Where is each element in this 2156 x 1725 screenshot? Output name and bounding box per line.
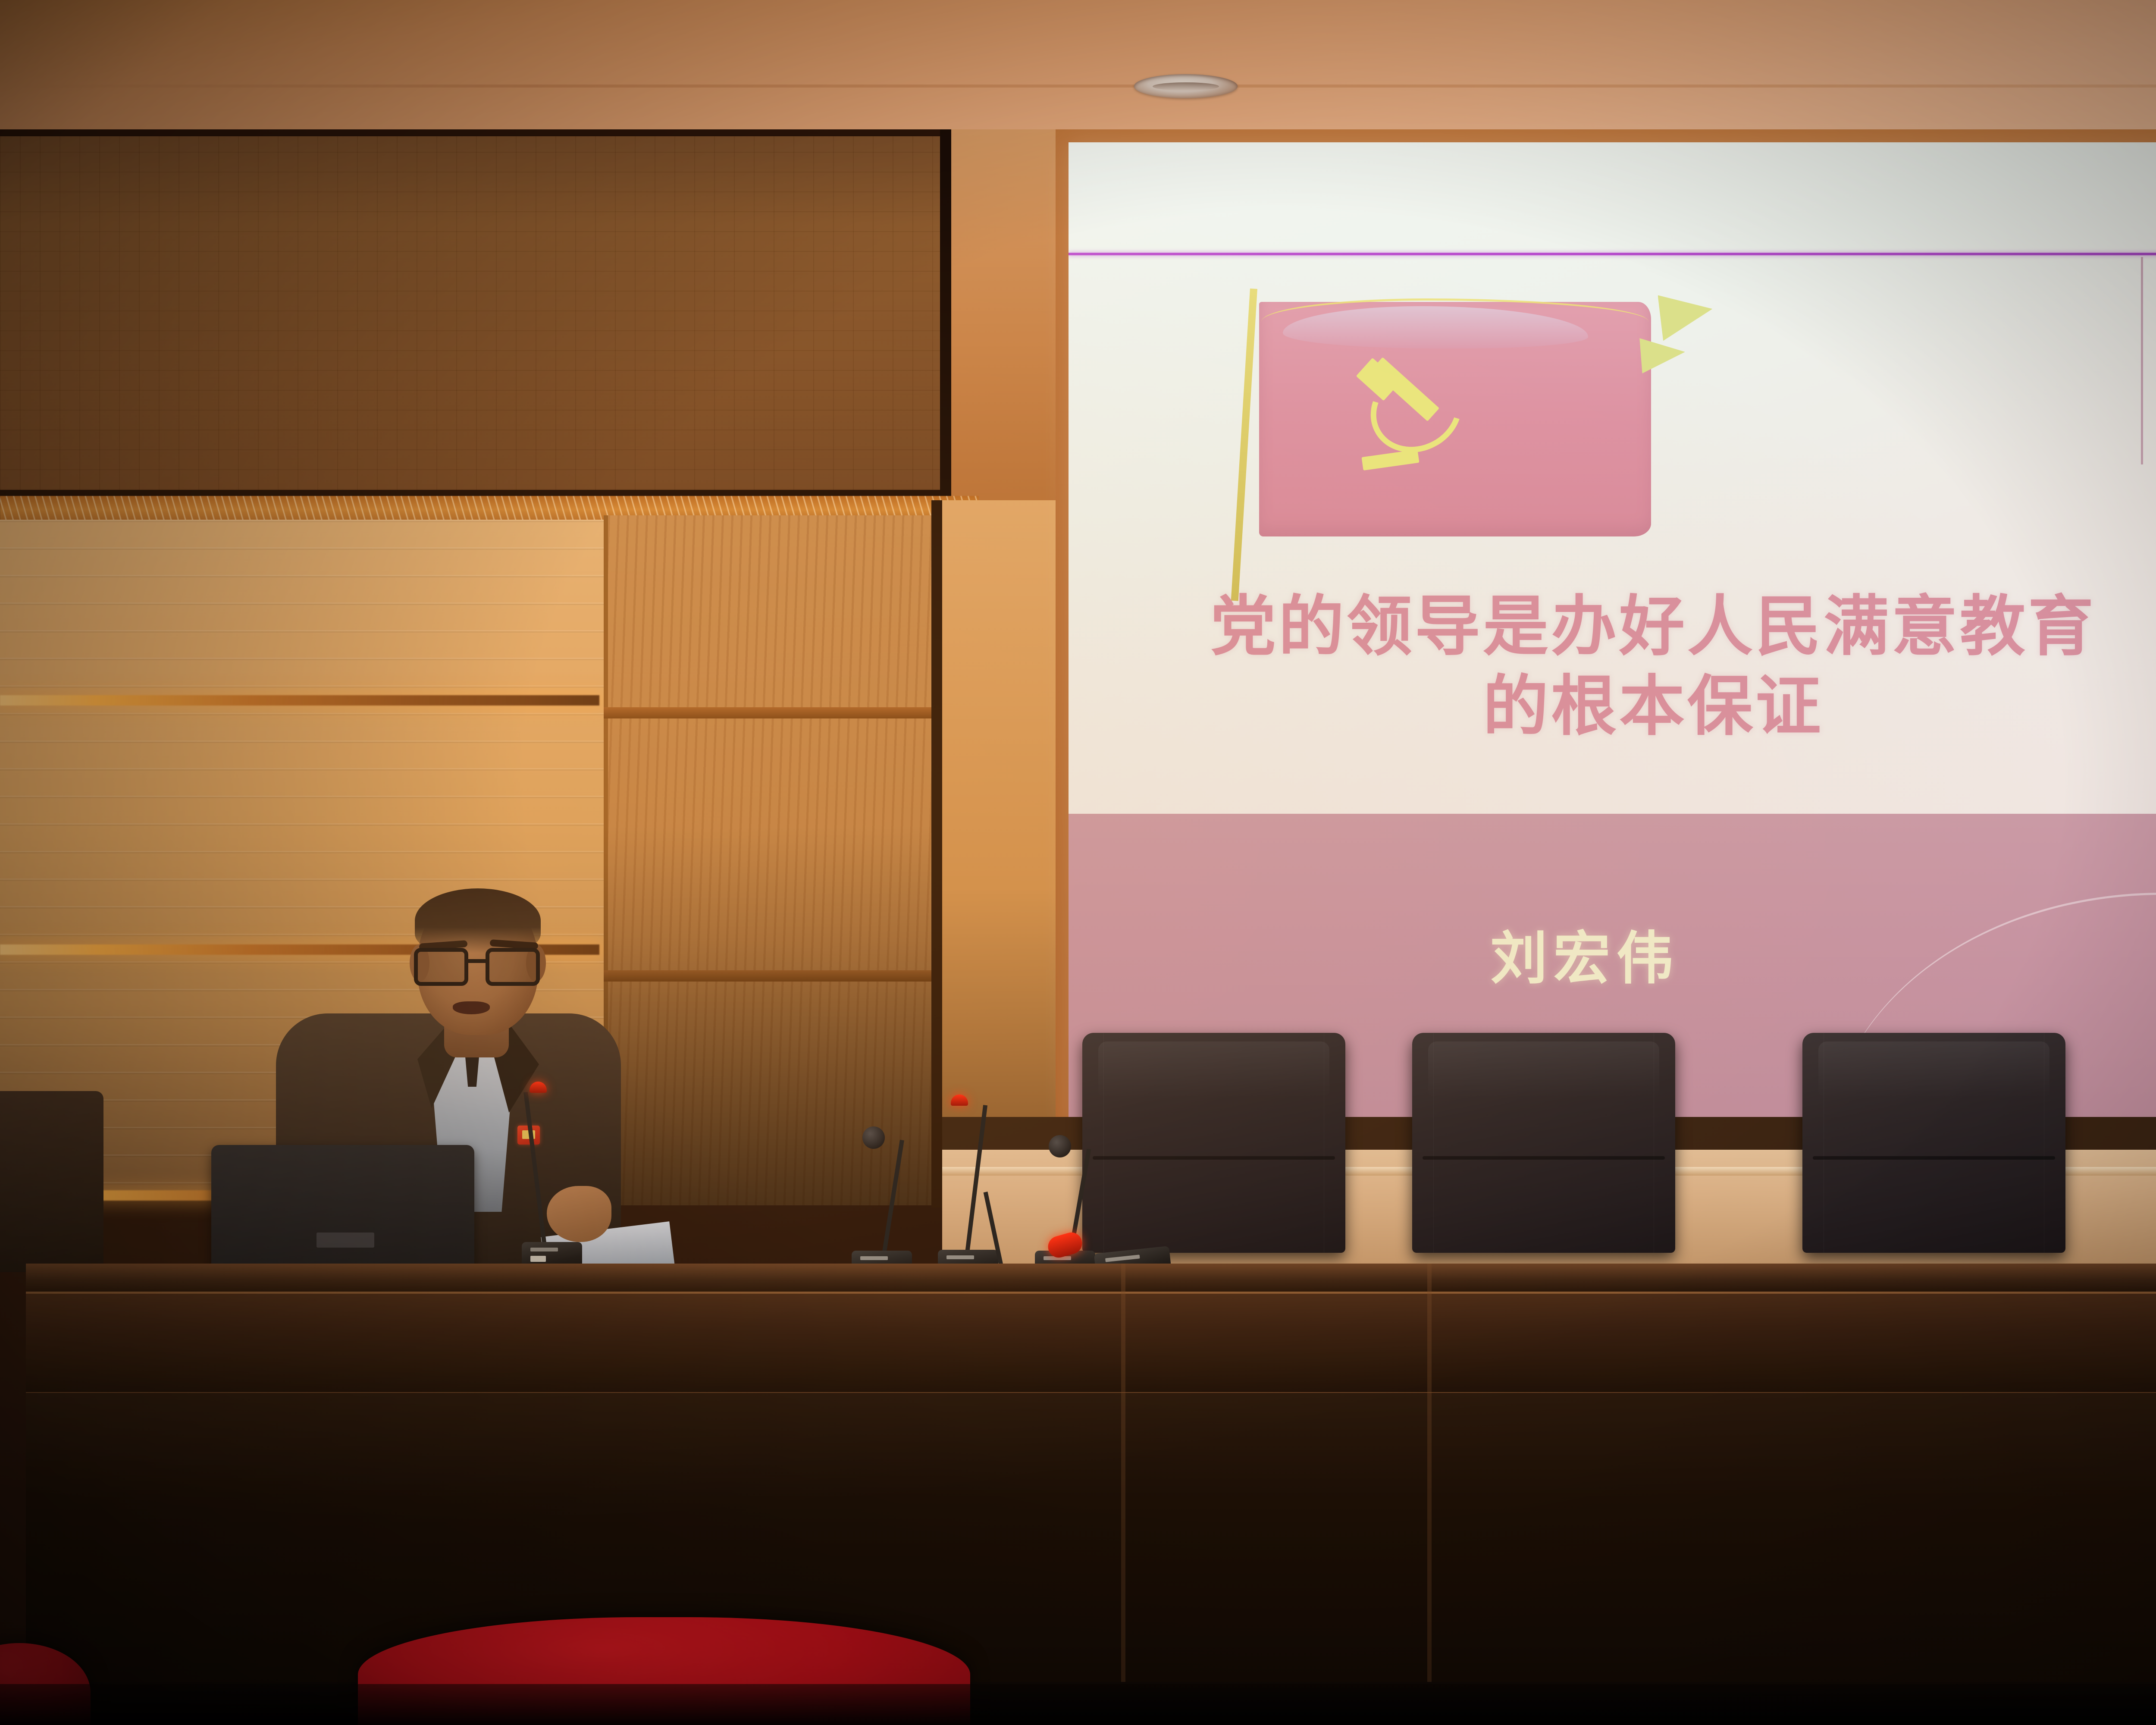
slide-title-line-2: 的根本保证 (1137, 667, 2156, 746)
projection-screen[interactable]: 计算机与通信工程学院 SCHOOL OF COMPUTER & COMMUNIC… (1069, 142, 2156, 1130)
side-desk (0, 1091, 103, 1272)
microphone-capsule (1049, 1135, 1071, 1157)
conference-chair[interactable] (1082, 1033, 1345, 1253)
hammer-sickle-icon (1357, 361, 1480, 471)
panel-frame-right (940, 129, 951, 501)
glasses-bridge (467, 959, 486, 963)
slide-presenter-name: 刘宏伟 (1251, 913, 1919, 995)
chair-highlight (1428, 1041, 1660, 1099)
podium-table-top (26, 1264, 2156, 1294)
lens-left (414, 948, 468, 986)
chair-highlight (1818, 1041, 2050, 1099)
wall-light-strip (0, 695, 599, 706)
door-shadow (604, 515, 942, 1205)
eyeglasses-icon (413, 948, 542, 988)
textured-brown-panel (0, 129, 979, 496)
lens-right (486, 948, 540, 986)
ceiling (0, 0, 2156, 147)
podium-table-body (26, 1294, 2156, 1406)
slide-vertical-rule (2141, 257, 2143, 464)
conference-chair[interactable] (1412, 1033, 1675, 1253)
slide-title-line-1: 党的领导是办好人民满意教育 (1137, 587, 2156, 667)
microphone-capsule (862, 1126, 885, 1149)
conference-chair[interactable] (1802, 1033, 2065, 1253)
conference-hall-scene: 计算机与通信工程学院 SCHOOL OF COMPUTER & COMMUNIC… (0, 0, 2156, 1725)
party-flag-icon (1238, 276, 1694, 602)
door-jamb (931, 500, 943, 1207)
sickle-handle (1361, 449, 1419, 470)
podium-table-front (26, 1393, 2156, 1690)
hand (547, 1186, 611, 1242)
slide-title: 党的领导是办好人民满意教育 的根本保证 (1137, 587, 2156, 747)
table-panel-seam (1121, 1264, 1125, 1690)
slide-divider-line (1069, 253, 2156, 255)
table-panel-seam (1427, 1264, 1432, 1690)
mouth (453, 1001, 490, 1014)
smoke-detector-icon (1134, 74, 1238, 98)
foreground-shadow (0, 1684, 2156, 1725)
ceiling-seam (0, 85, 2156, 88)
chair-highlight (1098, 1041, 1330, 1099)
laptop-brand-logo (317, 1233, 374, 1248)
